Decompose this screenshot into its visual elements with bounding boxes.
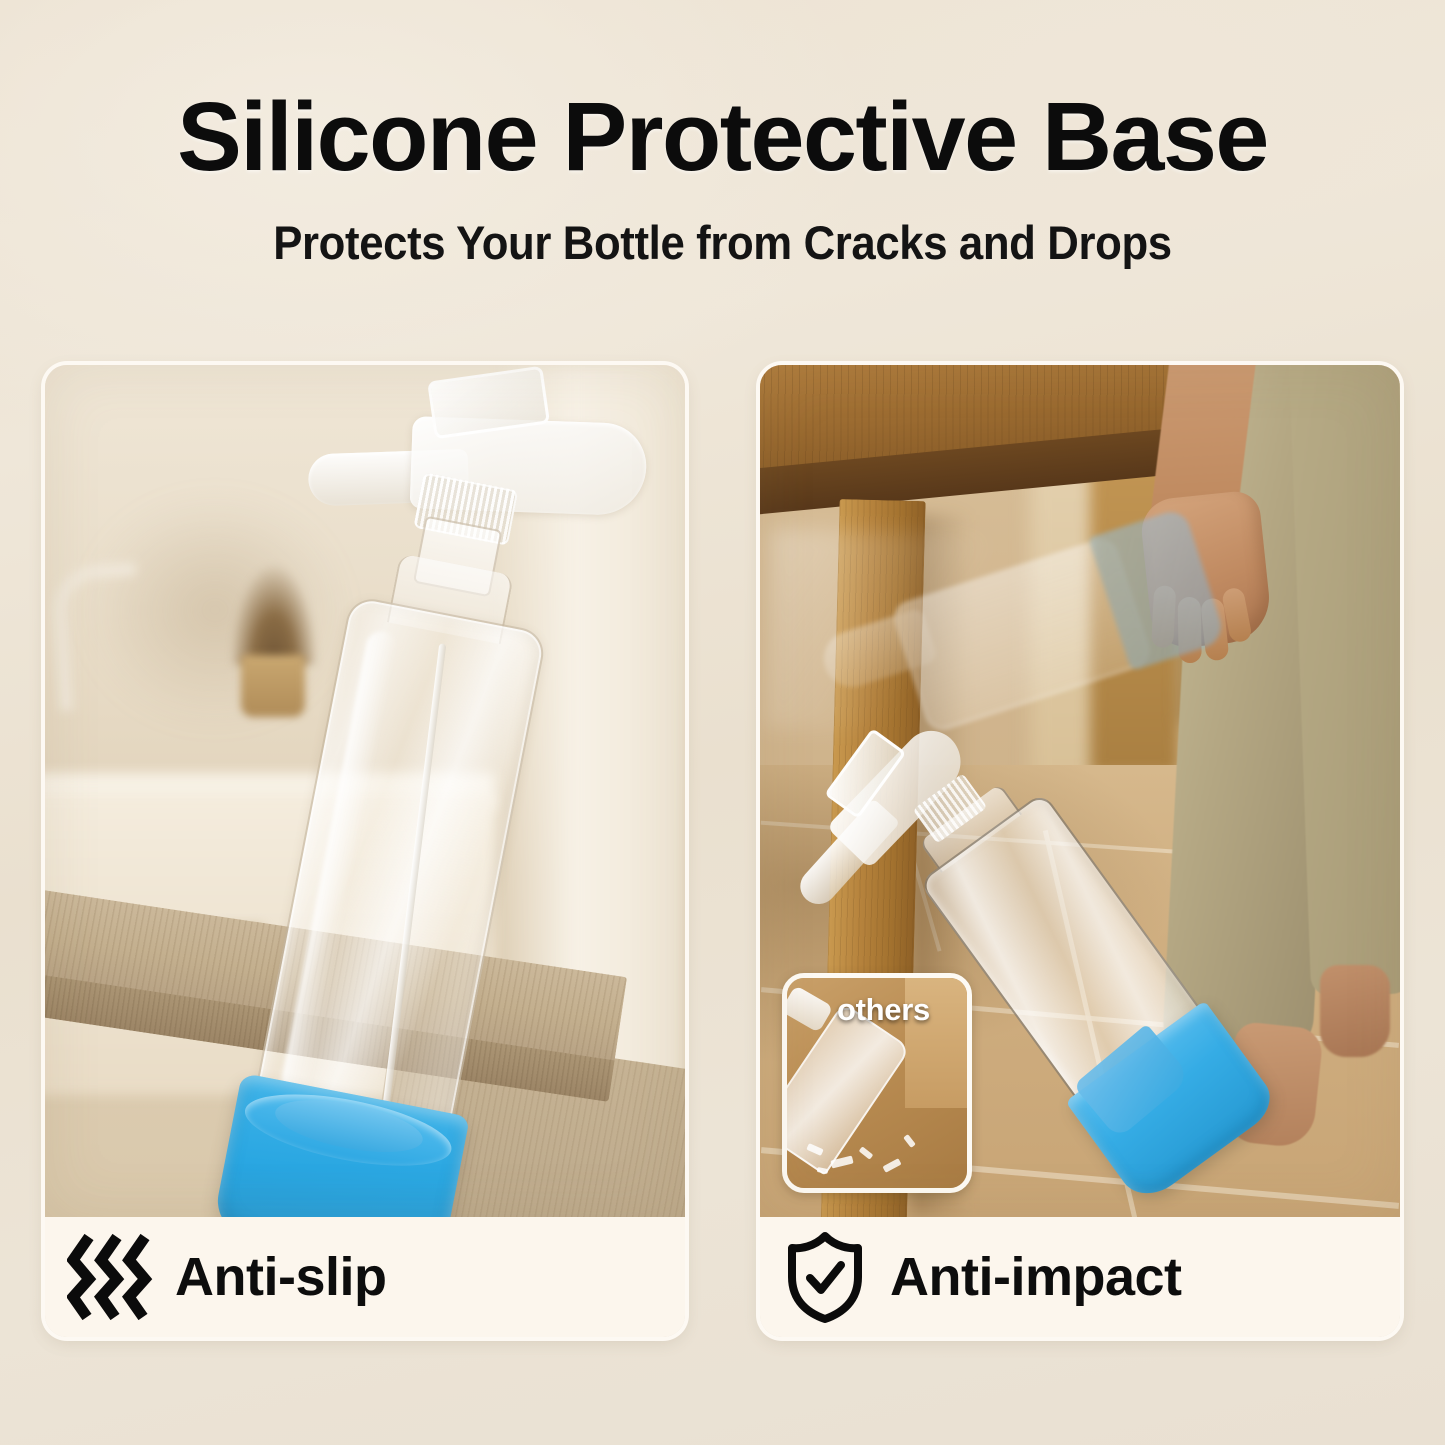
caption-anti-impact: Anti-impact [760,1217,1400,1337]
product-feature-graphic: Silicone Protective Base Protects Your B… [0,0,1445,1445]
caption-anti-slip: Anti-slip [45,1217,685,1337]
inset-label: others [837,992,930,1028]
feature-card-anti-slip: Anti-slip [45,365,685,1337]
photo-bottle-drop: others [760,365,1400,1217]
page-title: Silicone Protective Base [0,0,1445,185]
feature-card-anti-impact: others Anti-impact [760,365,1400,1337]
header: Silicone Protective Base Protects Your B… [0,0,1445,266]
caption-label: Anti-slip [175,1246,386,1308]
room-background: others [760,365,1400,1217]
faucet [50,562,145,711]
caption-label: Anti-impact [890,1246,1182,1308]
photo-spray-bottle-on-board [45,365,685,1217]
comparison-inset-others: others [782,973,972,1193]
shield-check-icon [760,1231,890,1323]
zigzag-lines-icon [45,1231,175,1323]
page-subtitle: Protects Your Bottle from Cracks and Dro… [51,185,1395,266]
person-foot-right [1320,965,1390,1057]
